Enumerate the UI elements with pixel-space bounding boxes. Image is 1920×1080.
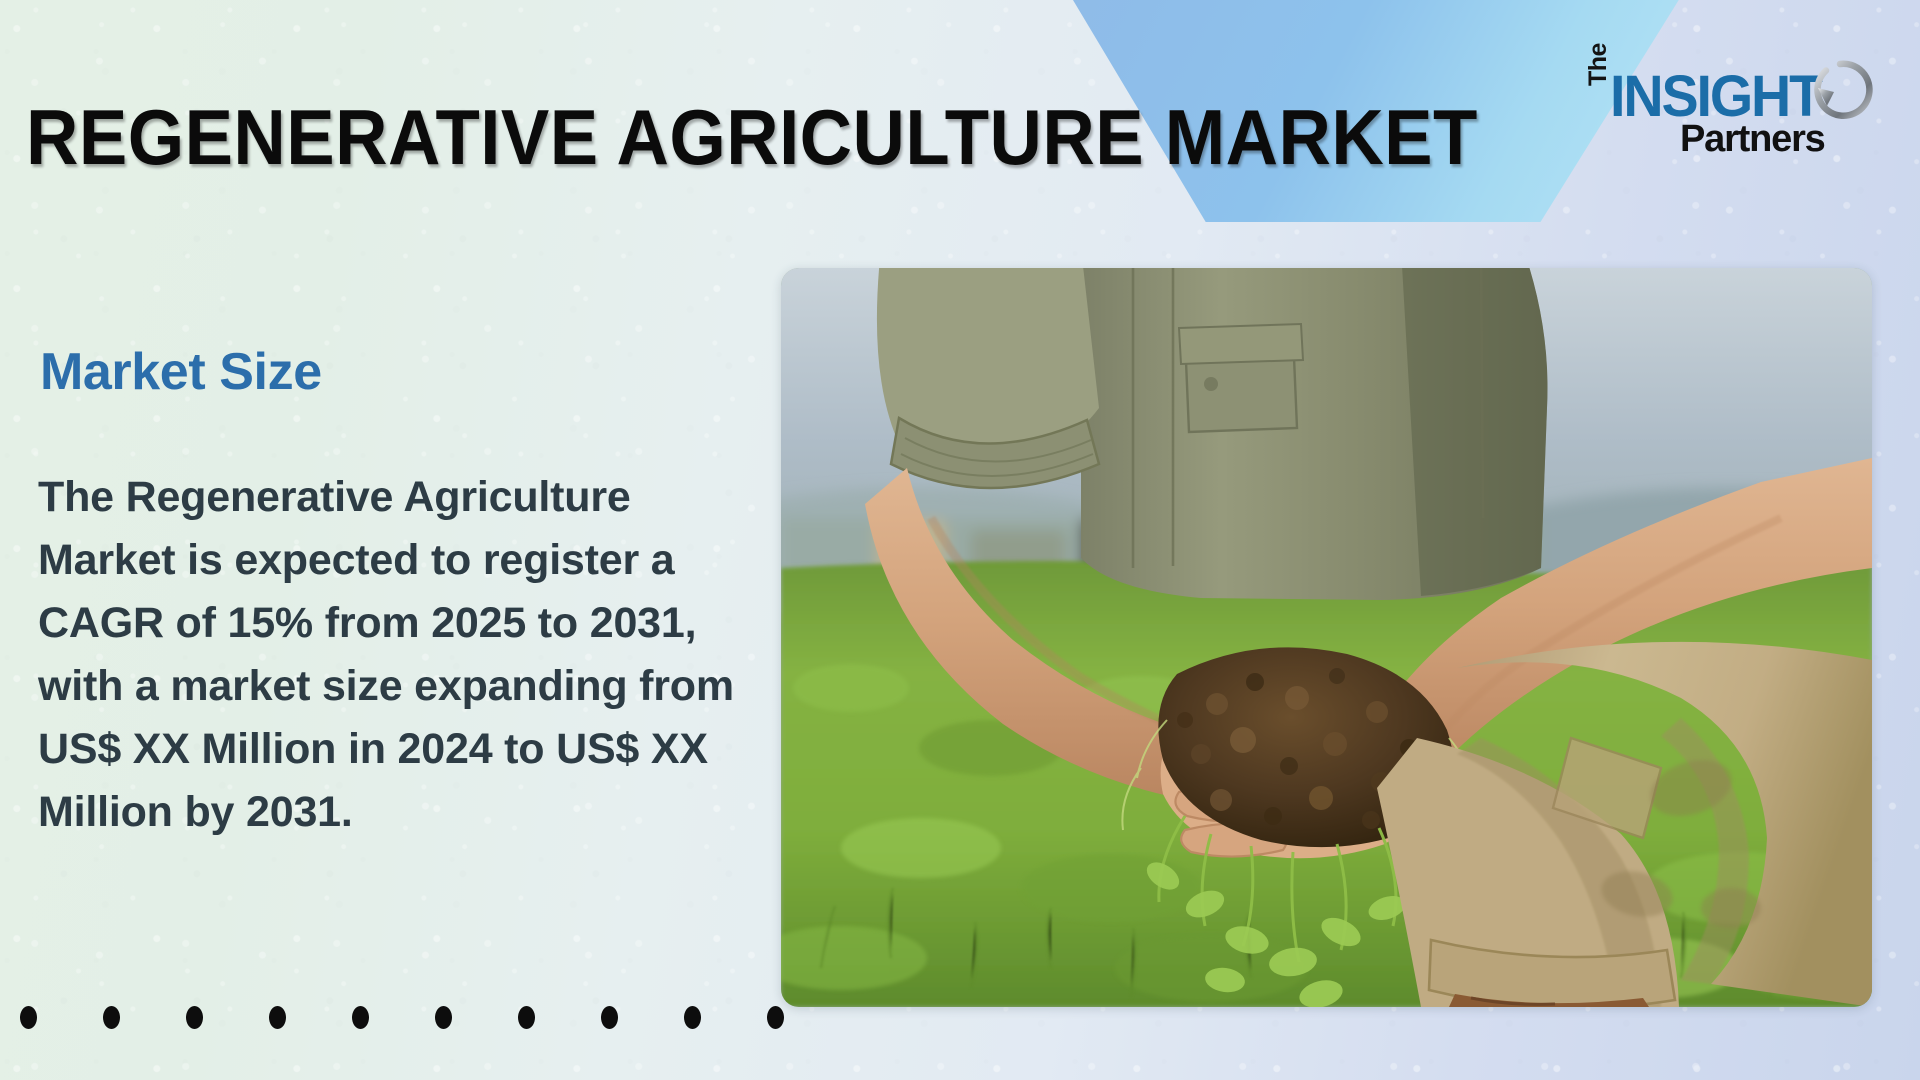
- hero-photo-farmer-holding-soil: [781, 268, 1872, 1007]
- brand-logo[interactable]: The INSIGHT Partners: [1582, 62, 1882, 172]
- circular-arrow-icon: [1804, 58, 1876, 136]
- decorative-dot: [518, 1006, 535, 1029]
- decorative-dot: [352, 1006, 369, 1029]
- decorative-dot: [601, 1006, 618, 1029]
- decorative-dot: [103, 1006, 120, 1029]
- decorative-dot: [435, 1006, 452, 1029]
- section-heading-market-size: Market Size: [40, 344, 322, 400]
- decorative-dot: [767, 1006, 784, 1029]
- decorative-dot: [269, 1006, 286, 1029]
- market-size-paragraph: The Regenerative Agriculture Market is e…: [38, 466, 778, 844]
- infographic-slide: REGENERATIVE AGRICULTURE MARKET The INSI…: [0, 0, 1920, 1080]
- decorative-dot: [684, 1006, 701, 1029]
- decorative-dot-row: [0, 1006, 820, 1032]
- page-title: REGENERATIVE AGRICULTURE MARKET: [26, 98, 993, 176]
- logo-the-text: The: [1584, 43, 1613, 86]
- logo-partners-text: Partners: [1680, 120, 1825, 158]
- farmer-soil-illustration: [781, 268, 1872, 1007]
- decorative-dot: [186, 1006, 203, 1029]
- decorative-dot: [20, 1006, 37, 1029]
